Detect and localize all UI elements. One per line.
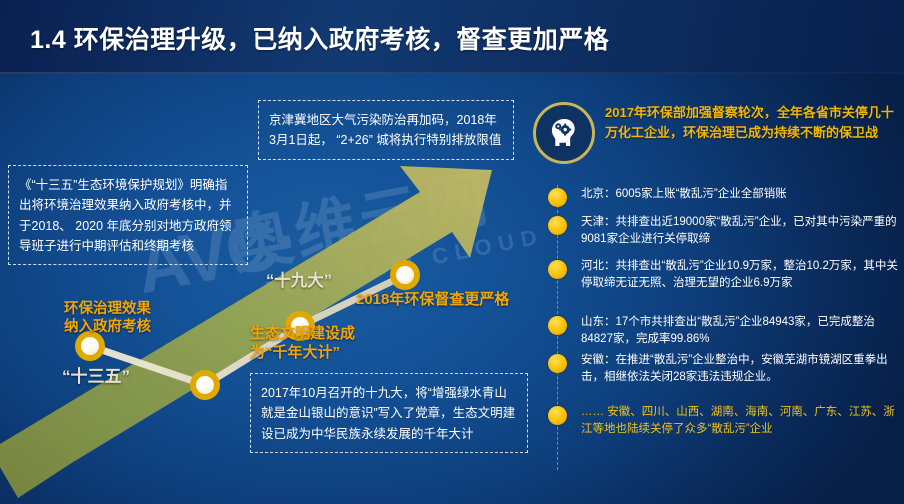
bullet-dot-icon	[548, 216, 567, 235]
trend-node	[190, 370, 220, 400]
panel-headline: 2017年环保部加强督察轮次，全年各省市关停几十万化工企业，环保治理已成为持续不…	[605, 103, 901, 142]
page-title: 1.4 环保治理升级，已纳入政府考核，督查更加严格	[30, 20, 609, 56]
list-item-text: 天津：共排查出近19000家“散乱污”企业，已对其中污染严重的9081家企业进行…	[581, 214, 899, 249]
node-label-13th-five-year: “十三五”	[62, 366, 130, 387]
bullet-dot-icon	[548, 354, 567, 373]
node-label-19th-congress: “十九大”	[266, 271, 332, 292]
callout-13th-five-year-plan: 《“十三五”生态环境保护规划》明确指出将环境治理效果纳入政府考核中，并于2018…	[8, 165, 248, 265]
trend-node	[390, 260, 420, 290]
slide-canvas: 1.4 环保治理升级，已纳入政府考核，督查更加严格 AVC· 奥维云网 ALL …	[0, 0, 904, 504]
list-item-text: …… 安徽、四川、山西、湖南、海南、河南、广东、江苏、浙江等地也陆续关停了众多“…	[581, 404, 899, 439]
node-label-2018-inspection: 2018年环保督查更严格	[356, 291, 509, 310]
panel-header: 2017年环保部加强督察轮次，全年各省市关停几十万化工企业，环保治理已成为持续不…	[533, 100, 901, 170]
list-item-text: 北京：6005家上账“散乱污”企业全部销账	[581, 186, 899, 203]
list-item-text: 河北：共排查出“散乱污”企业10.9万家，整治10.2万家，其中关停取缔无证无照…	[581, 258, 899, 293]
node-label-eco-civilization: 生态文明建设成 为“千年大计”	[250, 325, 355, 363]
list-item-text: 安徽：在推进“散乱污”企业整治中，安徽芜湖市镜湖区重拳出击，相继依法关闭28家违…	[581, 352, 899, 387]
bullet-dot-icon	[548, 316, 567, 335]
list-item-text: 山东：17个市共排查出“散乱污”企业84943家，已完成整治84827家，完成率…	[581, 314, 899, 349]
callout-19th-congress: 2017年10月召开的十九大，将“增强绿水青山就是金山银山的意识”写入了党章，生…	[250, 373, 528, 453]
bullet-dot-icon	[548, 406, 567, 425]
head-gears-icon	[533, 102, 595, 164]
bullet-dot-icon	[548, 188, 567, 207]
bullet-dot-icon	[548, 260, 567, 279]
node-label-assessment: 环保治理效果 纳入政府考核	[64, 300, 151, 336]
callout-jingjinji-emission: 京津冀地区大气污染防治再加码，2018年3月1日起， “2+26” 城将执行特别…	[258, 100, 514, 160]
